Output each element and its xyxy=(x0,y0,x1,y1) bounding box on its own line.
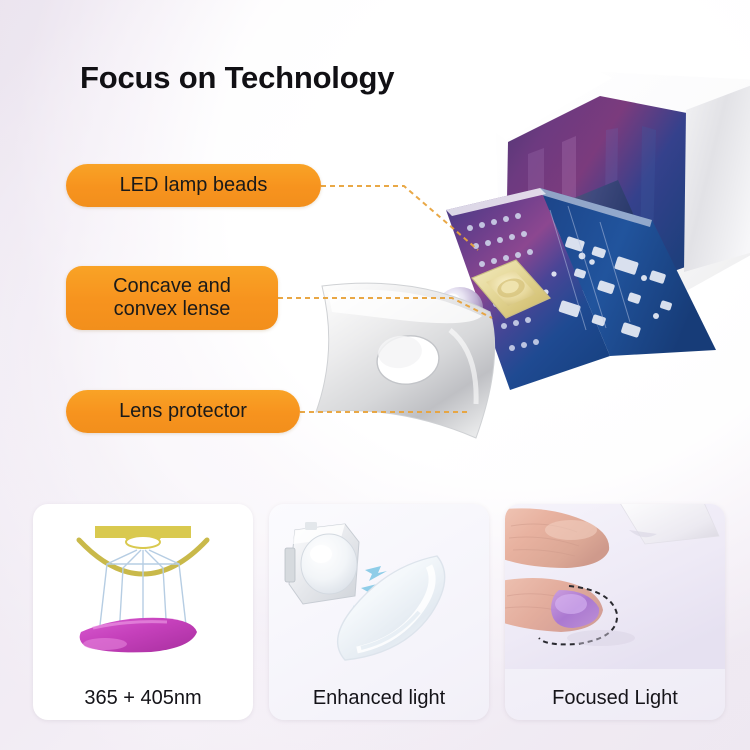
led-chip-and-lens-icon xyxy=(269,504,489,669)
lens-rays-nail-diagram-icon xyxy=(33,504,253,669)
callout-label: Lens protector xyxy=(119,400,247,423)
callout-label-line1: Concave and xyxy=(113,275,231,298)
callout-lens-protector[interactable]: Lens protector xyxy=(66,390,300,433)
feature-card-focused-light[interactable]: Focused Light xyxy=(505,504,725,720)
callout-label-block: Concave and convex lense xyxy=(103,275,241,321)
callout-label-line2: convex lense xyxy=(113,298,231,321)
feature-card-enhanced-light[interactable]: Enhanced light xyxy=(269,504,489,720)
callout-label: LED lamp beads xyxy=(120,174,268,197)
feature-card-wavelength[interactable]: 365 + 405nm xyxy=(33,504,253,720)
fingers-uv-photo-icon xyxy=(505,504,725,669)
feature-card-label: 365 + 405nm xyxy=(33,687,253,710)
product-artwork xyxy=(300,60,750,480)
lens-protector-part xyxy=(316,283,495,438)
feature-card-label: Enhanced light xyxy=(269,687,489,710)
feature-card-label: Focused Light xyxy=(505,687,725,710)
callout-concave-convex-lense[interactable]: Concave and convex lense xyxy=(66,266,278,330)
callout-led-lamp-beads[interactable]: LED lamp beads xyxy=(66,164,321,207)
feature-cards: 365 + 405nm xyxy=(33,504,723,720)
infographic-page: Focus on Technology xyxy=(0,0,750,750)
product-exploded-illustration xyxy=(300,60,750,480)
